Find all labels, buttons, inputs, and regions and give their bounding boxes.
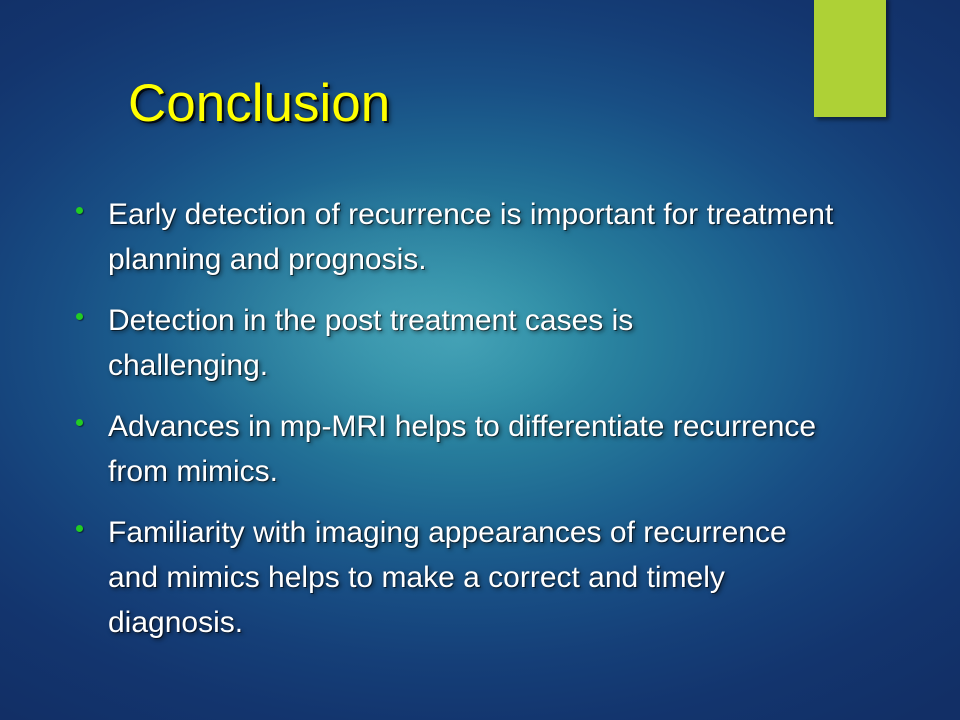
presentation-slide: Conclusion Early detection of recurrence…	[0, 0, 960, 720]
slide-title: Conclusion	[128, 74, 390, 134]
bullet-list-item: Advances in mp-MRI helps to differentiat…	[66, 404, 886, 494]
bullet-text: Detection in the post treatment cases is…	[108, 298, 788, 388]
bullet-list-item: Detection in the post treatment cases is…	[66, 298, 886, 388]
bullet-list-item: Familiarity with imaging appearances of …	[66, 510, 886, 645]
bullet-text: Advances in mp-MRI helps to differentiat…	[108, 404, 818, 494]
bullet-dot-icon	[76, 207, 83, 214]
bullet-text: Early detection of recurrence is importa…	[108, 192, 868, 282]
bullet-text: Familiarity with imaging appearances of …	[108, 510, 798, 645]
bullet-list: Early detection of recurrence is importa…	[66, 192, 886, 645]
bullet-list-item: Early detection of recurrence is importa…	[66, 192, 886, 282]
bullet-dot-icon	[76, 525, 83, 532]
bullet-dot-icon	[76, 313, 83, 320]
bullet-dot-icon	[76, 419, 83, 426]
accent-block-decoration	[814, 0, 886, 117]
